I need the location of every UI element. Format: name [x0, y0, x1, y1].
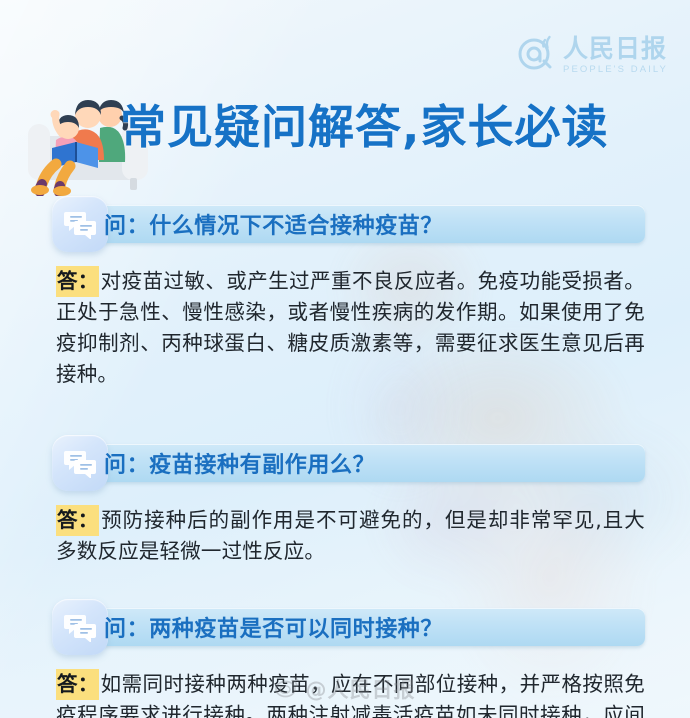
speech-bubbles-icon — [52, 435, 108, 491]
answer-row: 答：对疫苗过敏、或产生过严重不良反应者。免疫功能受损者。正处于急性、慢性感染，或… — [56, 266, 645, 391]
qa-block: 问：两种疫苗是否可以同时接种？ 答：如需同时接种两种疫苗，应在不同部位接种，并严… — [0, 599, 690, 718]
qa-block: 问：什么情况下不适合接种疫苗？ 答：对疫苗过敏、或产生过严重不良反应者。免疫功能… — [0, 196, 690, 391]
answer-row: 答：预防接种后的副作用是不可避免的，但是却非常罕见,且大多数反应是轻微一过性反应… — [56, 505, 645, 567]
brand-logo: 人民日报 PEOPLE'S DAILY — [517, 34, 668, 76]
infographic-poster: 人民日报 PEOPLE'S DAILY — [0, 0, 690, 718]
qa-list: 问：什么情况下不适合接种疫苗？ 答：对疫苗过敏、或产生过严重不良反应者。免疫功能… — [0, 196, 690, 718]
spacer — [0, 391, 690, 435]
answer-label: 答： — [56, 266, 99, 297]
speech-bubbles-icon — [52, 599, 108, 655]
question-row: 问：疫苗接种有副作用么？ — [52, 435, 645, 491]
answer-text: 如需同时接种两种疫苗，应在不同部位接种，并严格按照免疫程序要求进行接种。两种注射… — [56, 672, 645, 718]
answer-row: 答：如需同时接种两种疫苗，应在不同部位接种，并严格按照免疫程序要求进行接种。两种… — [56, 669, 645, 718]
spacer — [0, 567, 690, 599]
answer-label: 答： — [56, 505, 99, 536]
question-text: 问：两种疫苗是否可以同时接种？ — [104, 609, 443, 645]
question-text: 问：什么情况下不适合接种疫苗？ — [104, 206, 443, 242]
question-row: 问：两种疫苗是否可以同时接种？ — [52, 599, 645, 655]
speech-bubbles-icon — [52, 196, 108, 252]
at-signal-icon — [517, 34, 557, 76]
brand-wordmark: 人民日报 PEOPLE'S DAILY — [563, 34, 668, 75]
headline-row: 常见疑问解答,家长必读 — [0, 84, 690, 196]
brand-name-cn: 人民日报 — [563, 36, 667, 61]
answer-text: 对疫苗过敏、或产生过严重不良反应者。免疫功能受损者。正处于急性、慢性感染，或者慢… — [56, 269, 645, 386]
page-title: 常见疑问解答,家长必读 — [120, 104, 608, 150]
question-text: 问：疫苗接种有副作用么？ — [104, 445, 375, 481]
qa-block: 问：疫苗接种有副作用么？ 答：预防接种后的副作用是不可避免的，但是却非常罕见,且… — [0, 435, 690, 567]
question-row: 问：什么情况下不适合接种疫苗？ — [52, 196, 645, 252]
answer-label: 答： — [56, 669, 99, 700]
answer-text: 预防接种后的副作用是不可避免的，但是却非常罕见,且大多数反应是轻微一过性反应。 — [56, 508, 645, 563]
brand-name-en: PEOPLE'S DAILY — [563, 65, 668, 75]
